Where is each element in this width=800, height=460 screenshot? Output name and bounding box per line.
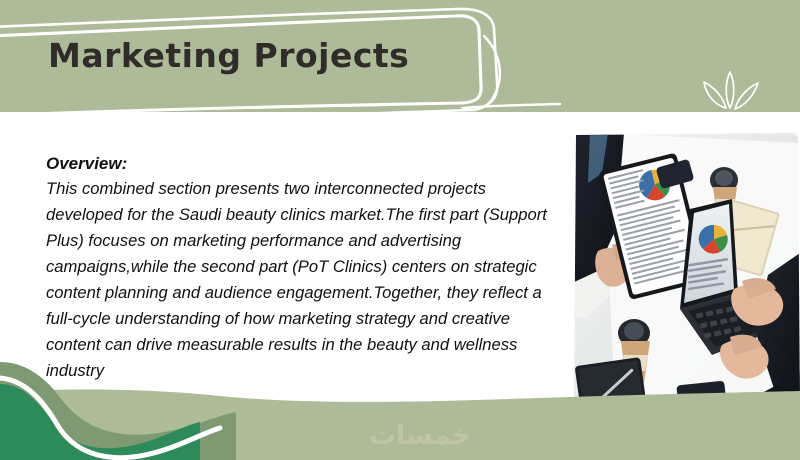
overview-label: Overview: — [46, 152, 554, 175]
meeting-photo-illustration — [572, 133, 800, 421]
overview-block: Overview: This combined section presents… — [46, 152, 554, 384]
slide-canvas: Marketing Projects Overview: This combin… — [0, 0, 800, 460]
meeting-photo — [572, 133, 800, 421]
overview-paragraph: This combined section presents two inter… — [46, 176, 554, 384]
sparkle-leaves-icon — [690, 68, 770, 116]
watermark: خمسات — [330, 420, 510, 451]
page-title: Marketing Projects — [48, 36, 409, 75]
